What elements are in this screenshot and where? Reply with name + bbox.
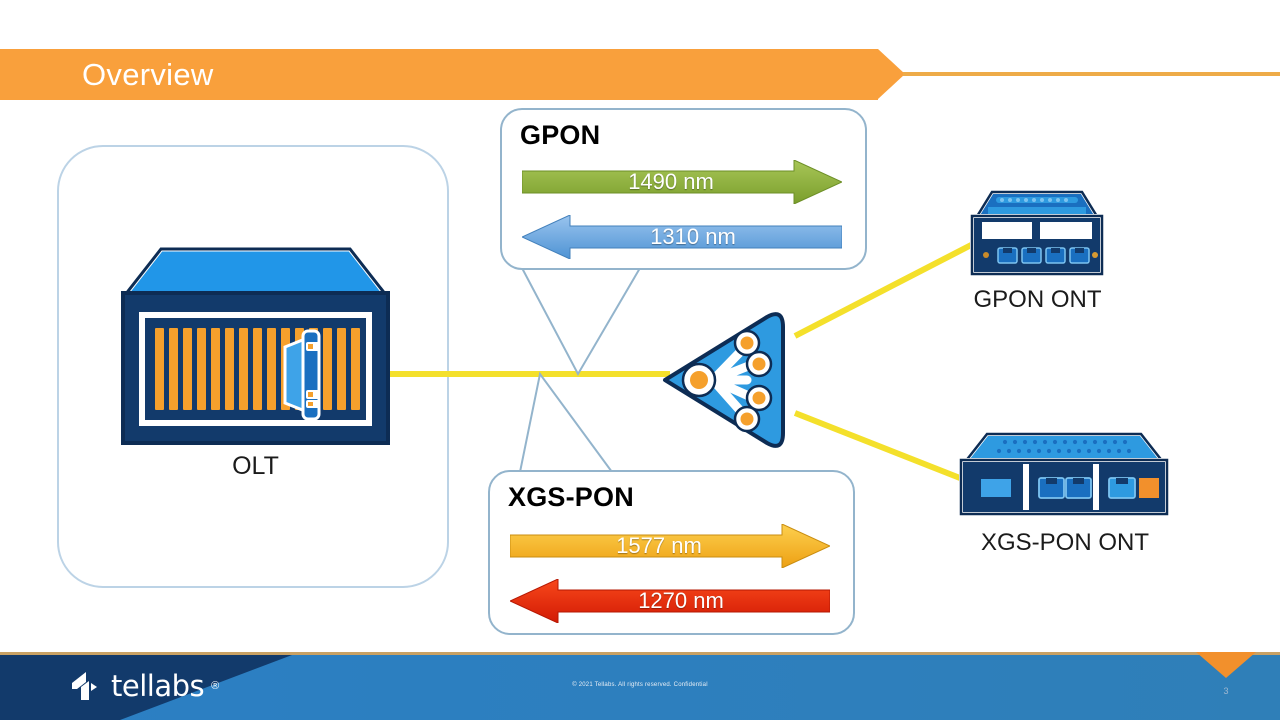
xgs-pon-ont-device — [953, 428, 1175, 520]
xgs-ont-status-indicator — [1139, 478, 1159, 498]
xgs-pon-callout-title: XGS-PON — [508, 482, 634, 513]
gpon-upstream-arrow: 1310 nm — [522, 215, 842, 259]
fiber-olt-to-splitter — [350, 371, 670, 377]
olt-optics-module — [285, 331, 320, 419]
xgs-downstream-arrow: 1577 nm — [510, 524, 830, 568]
xgs-ont-module — [981, 479, 1011, 497]
gpon-ont-led-left — [983, 252, 989, 258]
gpon-ont-label: GPON ONT — [930, 286, 1145, 314]
title-bar-arrow-tip — [878, 49, 905, 99]
copyright-notice: © 2021 Tellabs. All rights reserved. Con… — [0, 682, 1280, 688]
gpon-callout-title: GPON — [520, 120, 600, 151]
title-bar-rule — [903, 72, 1280, 76]
olt-label: OLT — [113, 452, 398, 481]
optical-splitter-icon — [655, 305, 800, 455]
gpon-callout-box: GPON 1490 nm — [500, 108, 867, 270]
gpon-downstream-arrow: 1490 nm — [522, 160, 842, 204]
olt-line-cards — [155, 328, 360, 410]
olt-illustration — [113, 243, 398, 448]
xgs-upstream-arrow: 1270 nm — [510, 579, 830, 623]
gpon-callout-tail — [522, 268, 640, 374]
footer-chevron-icon — [1196, 652, 1256, 678]
olt-device — [113, 243, 398, 448]
xgs-callout-tail — [520, 374, 612, 472]
xgs-pon-callout-box: XGS-PON 1577 nm — [488, 470, 855, 635]
slide-number: 3 — [1196, 686, 1256, 696]
slide-canvas: Overview — [0, 0, 1280, 720]
gpon-ont-device — [962, 188, 1112, 280]
page-title: Overview — [82, 55, 214, 94]
footer-top-rule — [0, 652, 1280, 655]
xgs-pon-ont-label: XGS-PON ONT — [930, 529, 1200, 557]
gpon-ont-led-right — [1092, 252, 1098, 258]
